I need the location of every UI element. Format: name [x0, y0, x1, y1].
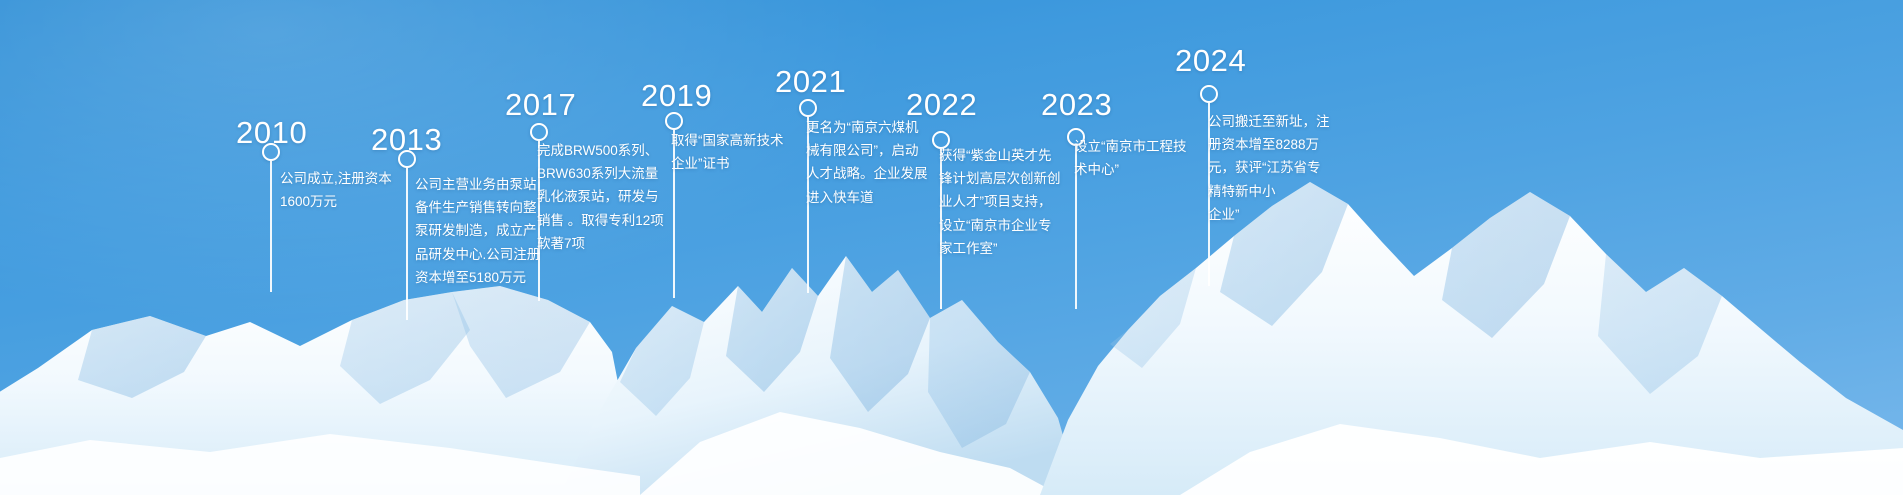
marker-circle-icon	[799, 99, 817, 117]
timeline-description-2017: 完成BRW500系列、 BRW630系列大流量 乳化液泵站，研发与 销售 。取得…	[537, 139, 687, 255]
marker-circle-icon	[262, 143, 280, 161]
timeline-description-2023: 设立“南京市工程技 术中心”	[1074, 135, 1214, 181]
timeline-year-2021: 2021	[775, 66, 846, 97]
marker-stem-line	[406, 168, 408, 320]
timeline-year-2023: 2023	[1041, 89, 1112, 120]
marker-circle-icon	[398, 150, 416, 168]
timeline-year-2024: 2024	[1175, 45, 1246, 76]
timeline-description-2024: 公司搬迁至新址，注 册资本增至8288万 元，获评“江苏省专 精特新中小 企业”	[1208, 110, 1348, 226]
timeline-year-2017: 2017	[505, 89, 576, 120]
marker-stem-line	[270, 161, 272, 292]
marker-circle-icon	[665, 112, 683, 130]
timeline-year-2022: 2022	[906, 89, 977, 120]
timeline-container: 2010 公司成立,注册资本 1600万元 2013 公司主营业务由泵站 备件生…	[0, 0, 1903, 495]
timeline-description-2021: 更名为“南京六煤机 械有限公司”，启动 人才战略。企业发展 进入快车道	[806, 116, 946, 209]
timeline-description-2013: 公司主营业务由泵站 备件生产销售转向整 泵研发制造，成立产 品研发中心.公司注册…	[415, 173, 555, 289]
marker-circle-icon	[1200, 85, 1218, 103]
timeline-description-2022: 获得“紫金山英才先 锋计划高层次创新创 业人才”项目支持， 设立“南京市企业专 …	[939, 144, 1079, 260]
timeline-year-2019: 2019	[641, 80, 712, 111]
timeline-description-2019: 取得“国家高新技术 企业”证书	[671, 129, 811, 175]
